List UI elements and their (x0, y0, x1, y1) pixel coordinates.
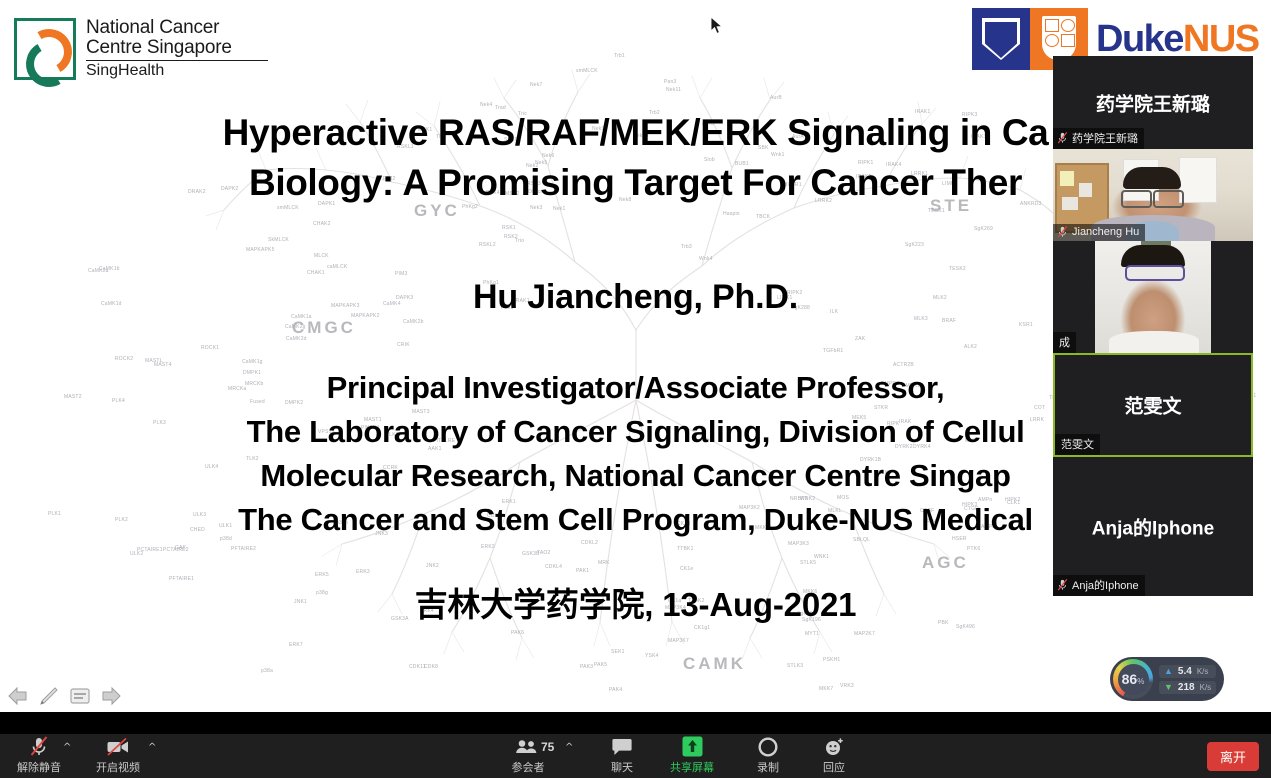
video-tile-3-active-speaker[interactable]: 范雯文 范雯文 (1053, 353, 1253, 457)
record-icon (758, 736, 778, 757)
video-tile-0-big-name: 药学院王新璐 (1053, 89, 1253, 116)
screen-share-bottom-gap (0, 712, 1271, 734)
toolbar-record-label: 录制 (757, 759, 779, 775)
video-tile-1-name-text: Jiancheng Hu (1072, 226, 1139, 238)
video-tile-3-nameplate: 范雯文 (1055, 434, 1100, 455)
video-tile-3-name-text: 范雯文 (1061, 436, 1094, 452)
participant-video-strip[interactable]: 药学院王新璐 药学院王新璐 Jiancheng Hu (1053, 56, 1253, 596)
share-screen-icon (682, 736, 703, 757)
upload-arrow-icon: ▲ (1164, 667, 1173, 676)
download-rate-value: 218 (1178, 682, 1195, 693)
zoom-meeting-toolbar[interactable]: 解除静音 ^ 开启视频 ^ 参会者 75 ^ (0, 734, 1271, 778)
network-quality-indicator[interactable]: 86% ▲ 5.4 K/s ▼ 218 K/s (1110, 657, 1224, 701)
participants-count: 75 (541, 740, 554, 754)
video-tile-2-camera-feed (1095, 241, 1211, 353)
download-rate-unit: K/s (1200, 683, 1212, 692)
video-tile-4[interactable]: Anja的Iphone Anja的Iphone (1053, 457, 1253, 596)
participants-options-caret-icon[interactable]: ^ (565, 743, 573, 753)
toolbar-chat-button[interactable]: 聊天 (589, 736, 655, 775)
next-slide-button[interactable] (99, 684, 123, 708)
video-tile-2-name-text: 成 (1059, 334, 1070, 350)
toolbar-video-label: 开启视频 (96, 759, 140, 775)
network-quality-percent: 86 (1122, 664, 1138, 695)
video-options-caret-icon[interactable]: ^ (148, 743, 156, 753)
toolbar-record-button[interactable]: 录制 (735, 736, 801, 775)
previous-slide-button[interactable] (6, 684, 30, 708)
mic-muted-icon (1057, 226, 1068, 238)
toolbar-video-button[interactable]: 开启视频 (85, 736, 151, 775)
camera-off-icon (106, 736, 130, 757)
microphone-muted-icon (30, 736, 48, 757)
upload-rate-row: ▲ 5.4 K/s (1159, 665, 1216, 678)
mic-muted-icon (1057, 579, 1068, 591)
leave-meeting-button[interactable]: 离开 (1207, 742, 1259, 771)
toolbar-audio-label: 解除静音 (17, 759, 61, 775)
download-arrow-icon: ▼ (1164, 683, 1173, 692)
upload-rate-unit: K/s (1197, 667, 1209, 676)
slideshow-navigation-bar[interactable] (6, 684, 123, 708)
toolbar-chat-label: 聊天 (611, 759, 633, 775)
participants-icon (515, 736, 541, 757)
video-tile-4-nameplate: Anja的Iphone (1053, 575, 1145, 596)
chat-bubble-icon (612, 736, 632, 757)
upload-rate-value: 5.4 (1178, 666, 1192, 677)
video-tile-0-name-text: 药学院王新璐 (1072, 130, 1138, 146)
video-tile-2-nameplate: 成 (1053, 332, 1076, 353)
mouse-pointer-icon (710, 16, 723, 35)
toolbar-participants-label: 参会者 (512, 759, 545, 775)
download-rate-row: ▼ 218 K/s (1159, 681, 1216, 694)
video-tile-4-name-text: Anja的Iphone (1072, 577, 1139, 593)
network-quality-ring: 86% (1113, 659, 1153, 699)
toolbar-share-screen-button[interactable]: 共享屏幕 (659, 736, 725, 775)
video-tile-1[interactable]: Jiancheng Hu (1053, 149, 1253, 241)
reactions-icon (824, 736, 845, 757)
video-tile-0-nameplate: 药学院王新璐 (1053, 128, 1144, 149)
percent-symbol: % (1137, 677, 1144, 686)
video-tile-4-big-name: Anja的Iphone (1053, 513, 1253, 540)
audio-options-caret-icon[interactable]: ^ (63, 743, 71, 753)
video-tile-3-big-name: 范雯文 (1055, 392, 1251, 419)
annotation-pen-button[interactable] (37, 684, 61, 708)
video-tile-1-nameplate: Jiancheng Hu (1053, 224, 1145, 241)
slide-menu-button[interactable] (68, 684, 92, 708)
toolbar-reactions-button[interactable]: 回应 (801, 736, 867, 775)
toolbar-share-screen-label: 共享屏幕 (670, 759, 714, 775)
video-tile-0[interactable]: 药学院王新璐 药学院王新璐 (1053, 56, 1253, 149)
mic-muted-icon (1057, 132, 1068, 144)
toolbar-reactions-label: 回应 (823, 759, 845, 775)
video-tile-2[interactable]: 成 (1053, 241, 1253, 353)
